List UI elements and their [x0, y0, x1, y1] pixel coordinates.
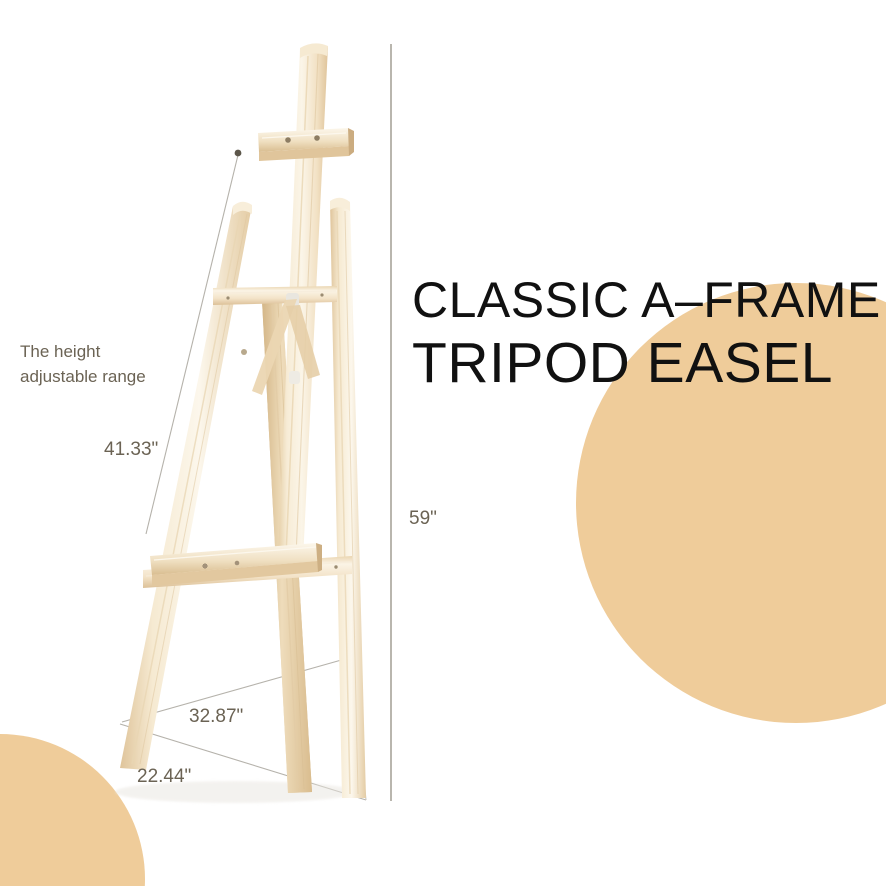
headline-line-2: TRIPOD EASEL: [412, 331, 882, 396]
dimension-label-width: 22.44": [137, 763, 191, 791]
dimension-label-height-range: 41.33": [104, 436, 158, 464]
dimension-label-depth: 32.87": [189, 703, 243, 731]
dimension-label-total-height: 59": [409, 505, 437, 533]
headline-line-1: CLASSIC A–FRAME: [412, 272, 882, 329]
upper-cross-brace: [213, 286, 337, 305]
top-clamp-bar: [258, 128, 354, 161]
dimension-arrow-head: [235, 150, 242, 157]
product-infographic: The height adjustable range 41.33" 59" 3…: [0, 0, 886, 886]
product-headline: CLASSIC A–FRAME TRIPOD EASEL: [412, 272, 882, 396]
left-front-leg: [120, 202, 252, 770]
height-adjustable-range-label: The height adjustable range: [20, 340, 146, 389]
